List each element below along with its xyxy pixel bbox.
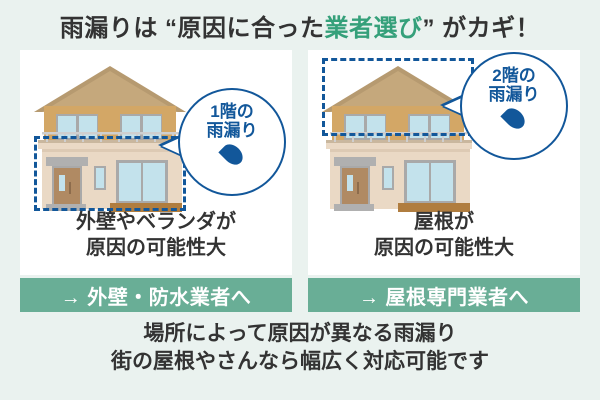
water-drop-icon <box>218 140 246 168</box>
card-floor2-caption: 屋根が 原因の可能性大 <box>308 210 580 261</box>
page-title: 雨漏りは “原因に合った業者選び” がカギ！ <box>0 8 600 43</box>
card-floor1: 1階の 雨漏り 外壁やベランダが 原因の可能性大 → 外壁・防水業者へ <box>20 50 292 312</box>
card-floor2-caption-line2: 原因の可能性大 <box>308 236 580 262</box>
bubble-line2-floor1: 雨漏り <box>207 121 258 140</box>
comparison-cards: 1階の 雨漏り 外壁やベランダが 原因の可能性大 → 外壁・防水業者へ <box>20 50 580 312</box>
card-floor1-caption: 外壁やベランダが 原因の可能性大 <box>20 210 292 261</box>
page-title-before: 雨漏りは “原因に合った <box>60 15 325 42</box>
footer-message: 場所によって原因が異なる雨漏り 街の屋根やさんなら幅広く対応可能です <box>0 320 600 376</box>
card-floor2-caption-line1: 屋根が <box>308 210 580 236</box>
footer-line2: 街の屋根やさんなら幅広く対応可能です <box>0 348 600 376</box>
page-title-highlight: 業者選び <box>325 15 423 42</box>
bubble-line1-floor2: 2階の <box>492 66 535 85</box>
action-bar-floor2[interactable]: → 屋根専門業者へ <box>308 278 580 312</box>
card-floor2: 2階の 雨漏り 屋根が 原因の可能性大 → 屋根専門業者へ <box>308 50 580 312</box>
bubble-line1-floor1: 1階の <box>210 102 253 121</box>
water-drop-icon <box>500 104 528 132</box>
speech-bubble-floor1: 1階の 雨漏り <box>178 88 286 196</box>
action-bar-floor1[interactable]: → 外壁・防水業者へ <box>20 278 292 312</box>
bubble-line2-floor2: 雨漏り <box>489 85 540 104</box>
speech-bubble-floor2: 2階の 雨漏り <box>460 52 568 160</box>
card-floor1-caption-line1: 外壁やベランダが <box>20 210 292 236</box>
page-title-after: ” がカギ！ <box>423 15 541 42</box>
footer-line1: 場所によって原因が異なる雨漏り <box>0 320 600 348</box>
card-floor1-caption-line2: 原因の可能性大 <box>20 236 292 262</box>
